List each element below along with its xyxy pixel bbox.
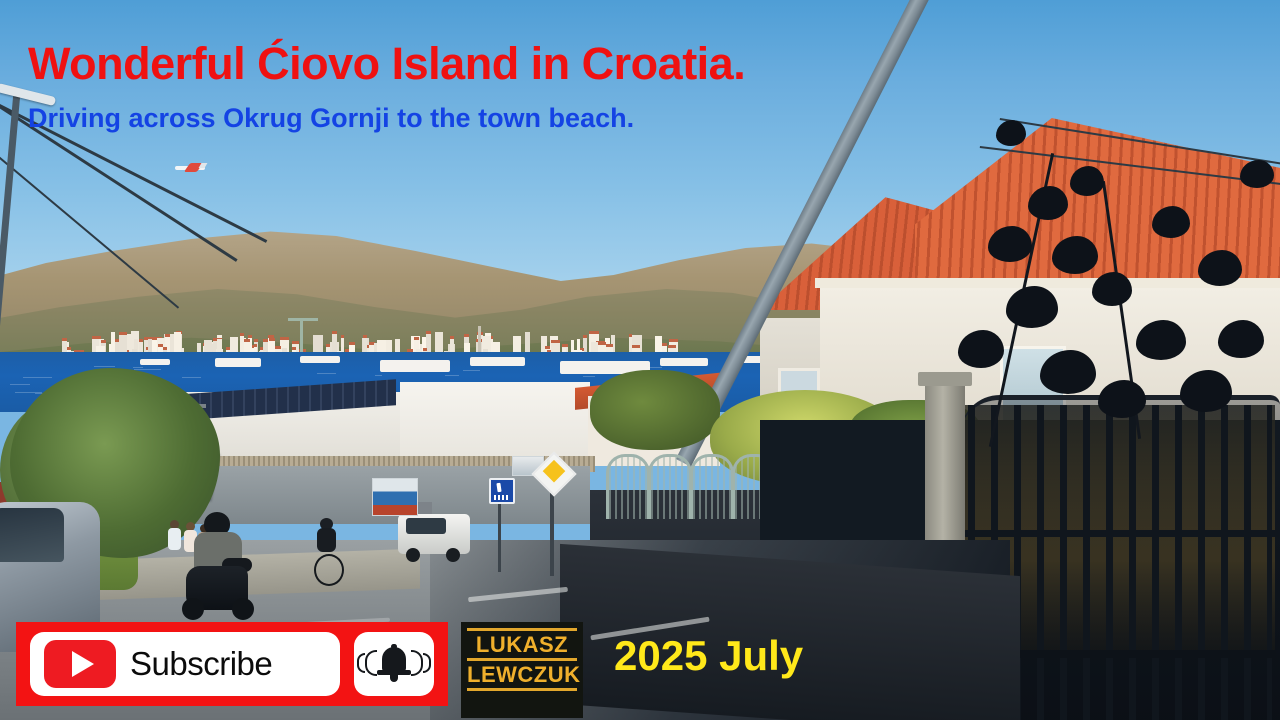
harbor-crane-arm <box>288 318 318 321</box>
gate-post-cap <box>918 372 972 386</box>
watermark-rule <box>467 628 577 631</box>
channel-watermark: LUKASZ LEWCZUK <box>461 622 583 718</box>
town-across-bay <box>60 322 680 356</box>
dark-shrub <box>590 370 720 450</box>
harbor-ship <box>470 357 525 366</box>
town-roof <box>583 335 587 338</box>
town-roof <box>62 338 67 341</box>
town-roof <box>562 344 568 347</box>
fence-arch-panel <box>690 454 734 519</box>
town-roof <box>240 333 244 336</box>
vine-leaf <box>1098 380 1146 418</box>
town-roof <box>414 337 419 340</box>
town-roof <box>280 337 289 340</box>
town-roof <box>332 331 337 334</box>
watermark-rule <box>467 688 577 691</box>
watermark-line-1: LUKASZ <box>467 633 577 656</box>
vine-leaf <box>996 120 1026 146</box>
fence-arch-panel <box>606 454 650 519</box>
gate-rail-upper <box>964 530 1276 537</box>
town-roof <box>269 338 274 341</box>
town-roof <box>326 344 330 347</box>
town-roof <box>363 335 366 338</box>
town-roof <box>668 345 676 348</box>
town-roof <box>260 347 263 350</box>
town-roof <box>119 332 127 335</box>
town-roof <box>598 342 606 345</box>
sign-pole <box>498 500 501 572</box>
harbor-ship <box>660 358 708 366</box>
sea-glint <box>648 367 663 368</box>
town-roof <box>254 344 257 347</box>
town-roof <box>254 339 258 342</box>
subscribe-button[interactable]: Subscribe <box>30 632 340 696</box>
scooter-rider <box>180 512 258 620</box>
fence-arch-panel <box>648 454 692 519</box>
watermark-line-2: LEWCZUK <box>467 663 577 686</box>
vine-leaf <box>1180 370 1232 412</box>
vine-leaf <box>1136 320 1186 360</box>
town-roof <box>450 336 455 339</box>
date-overlay: 2025 July <box>614 632 803 680</box>
vine-leaf <box>1040 350 1096 394</box>
video-frame: Wonderful Ćiovo Island in Croatia. Drivi… <box>0 0 1280 720</box>
subscribe-bar[interactable]: Subscribe <box>16 622 448 706</box>
town-roof <box>292 347 296 350</box>
vine-leaf <box>1006 286 1058 328</box>
vine-leaf <box>1152 206 1190 238</box>
watermark-rule <box>467 658 577 661</box>
town-roof <box>292 341 299 344</box>
youtube-play-icon <box>44 640 116 688</box>
harbor-ship <box>215 358 261 367</box>
town-roof <box>551 340 560 343</box>
video-title: Wonderful Ćiovo Island in Croatia. <box>28 38 745 90</box>
pedestrian-crossing-sign <box>489 478 515 504</box>
town-roof <box>165 334 171 337</box>
vine-leaf <box>1028 186 1068 220</box>
vine-leaf <box>1052 236 1098 274</box>
notification-bell-icon <box>377 644 411 684</box>
town-roof <box>248 335 253 338</box>
harbor-ship <box>300 356 340 363</box>
town-roof <box>632 345 640 348</box>
vine-leaf <box>1198 250 1242 286</box>
sign-pole <box>550 486 554 576</box>
vine-leaf <box>1240 160 1274 188</box>
vine-leaf <box>1070 166 1104 196</box>
town-roof <box>629 334 633 337</box>
vine-leaf <box>958 330 1004 368</box>
town-roof <box>426 331 431 334</box>
parked-car-window <box>0 508 64 562</box>
notification-bell-button[interactable] <box>354 632 434 696</box>
subscribe-label: Subscribe <box>130 645 272 683</box>
town-roof <box>669 339 678 342</box>
airplane-icon <box>175 163 205 171</box>
harbor-crane <box>300 318 303 352</box>
town-roof <box>101 340 106 343</box>
town-roof <box>589 331 599 334</box>
video-subtitle: Driving across Okrug Gornji to the town … <box>28 103 634 134</box>
cyclist <box>312 518 342 584</box>
town-roof <box>163 347 167 350</box>
vine-leaf <box>988 226 1032 262</box>
harbor-crane-2 <box>478 326 481 354</box>
sea-glint <box>133 367 143 368</box>
information-board <box>372 478 418 516</box>
vine-leaf <box>1092 272 1132 306</box>
town-roof <box>349 342 355 345</box>
town-roof <box>423 348 427 351</box>
vine-leaf <box>1218 320 1264 358</box>
harbor-ship <box>140 359 170 365</box>
town-roof <box>341 335 344 338</box>
town-roof <box>464 334 469 337</box>
